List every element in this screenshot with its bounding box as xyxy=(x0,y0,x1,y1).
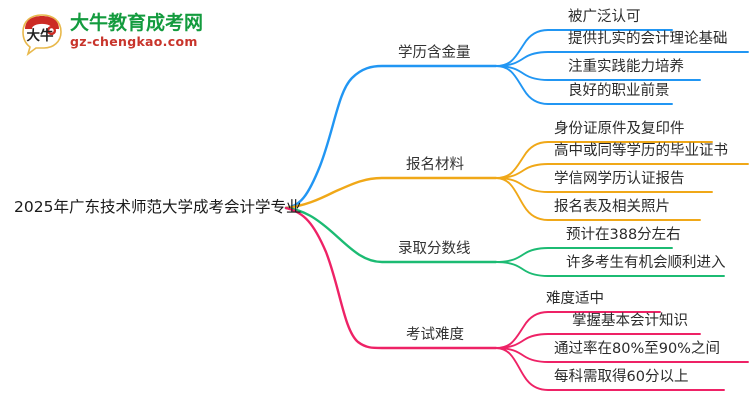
leaf-label-1-3[interactable]: 注重实践能力培养 xyxy=(568,58,684,77)
leaf-label-3-1[interactable]: 预计在388分左右 xyxy=(566,226,681,245)
leaf-label-1-4[interactable]: 良好的职业前景 xyxy=(568,82,670,101)
leaf-label-2-3[interactable]: 学信网学历认证报告 xyxy=(554,170,685,189)
branch-label-2[interactable]: 报名材料 xyxy=(406,156,464,175)
leaf-label-2-4[interactable]: 报名表及相关照片 xyxy=(554,198,670,217)
leaf-label-4-3[interactable]: 通过率在80%至90%之间 xyxy=(554,340,720,359)
root-topic[interactable]: 2025年广东技术师范大学成考会计学专业 xyxy=(14,197,301,217)
leaf-label-4-1[interactable]: 难度适中 xyxy=(546,290,604,309)
leaf-label-1-2[interactable]: 提供扎实的会计理论基础 xyxy=(568,30,728,49)
mindmap-canvas: 大牛 大牛教育成考网 gz-chengkao.com xyxy=(0,0,750,410)
leaf-label-2-2[interactable]: 高中或同等学历的毕业证书 xyxy=(554,142,728,161)
leaf-label-1-1[interactable]: 被广泛认可 xyxy=(568,8,641,27)
leaf-label-3-2[interactable]: 许多考生有机会顺利进入 xyxy=(566,254,726,273)
leaf-label-4-2[interactable]: 掌握基本会计知识 xyxy=(572,312,688,331)
leaf-label-2-1[interactable]: 身份证原件及复印件 xyxy=(554,120,685,139)
branch-label-4[interactable]: 考试难度 xyxy=(406,326,464,345)
leaf-label-4-4[interactable]: 每科需取得60分以上 xyxy=(554,368,688,387)
branch-label-3[interactable]: 录取分数线 xyxy=(398,240,471,259)
branch-label-1[interactable]: 学历含金量 xyxy=(398,44,471,63)
